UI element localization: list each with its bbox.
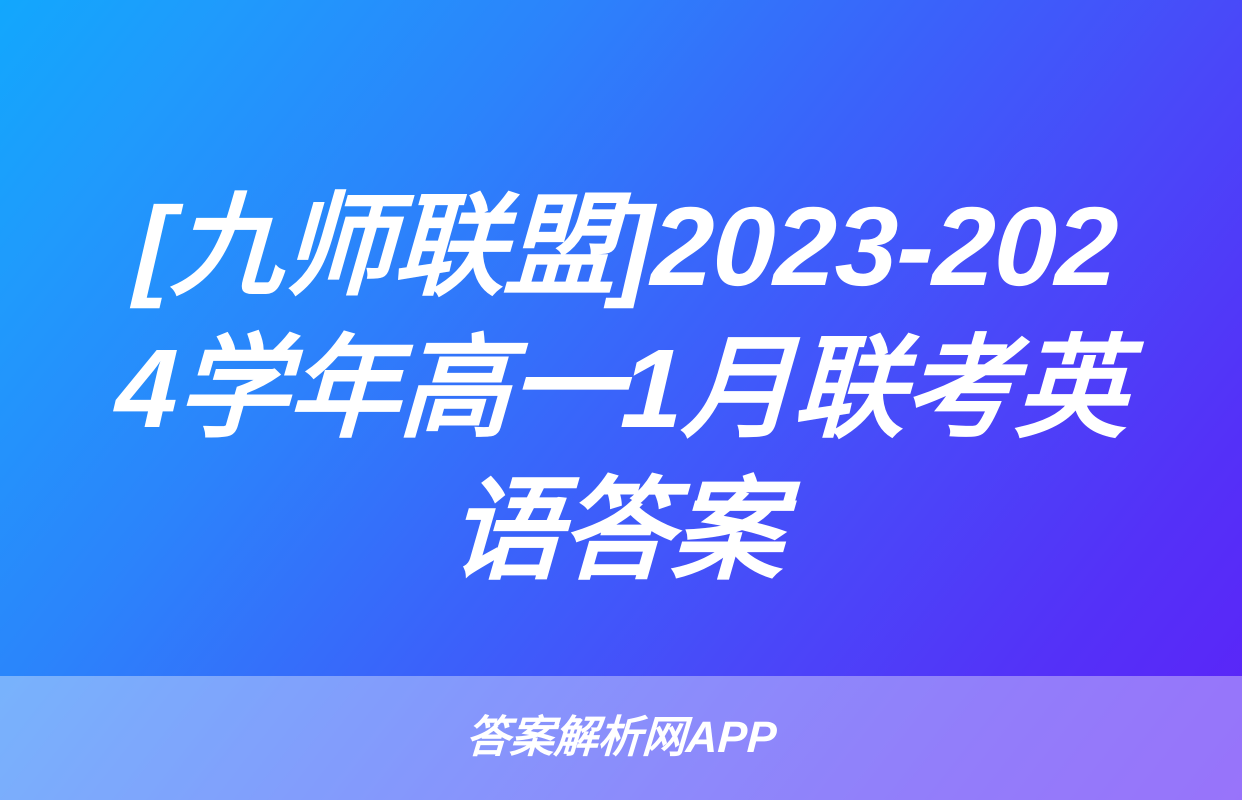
headline-region: [九师联盟]2023-2024学年高一1月联考英语答案 — [0, 0, 1242, 676]
poster-canvas: [九师联盟]2023-2024学年高一1月联考英语答案 答案解析网APP — [0, 0, 1242, 800]
footer-watermark-band: 答案解析网APP — [0, 676, 1242, 800]
watermark-label: 答案解析网APP — [464, 712, 777, 764]
page-title: [九师联盟]2023-2024学年高一1月联考英语答案 — [94, 176, 1149, 602]
